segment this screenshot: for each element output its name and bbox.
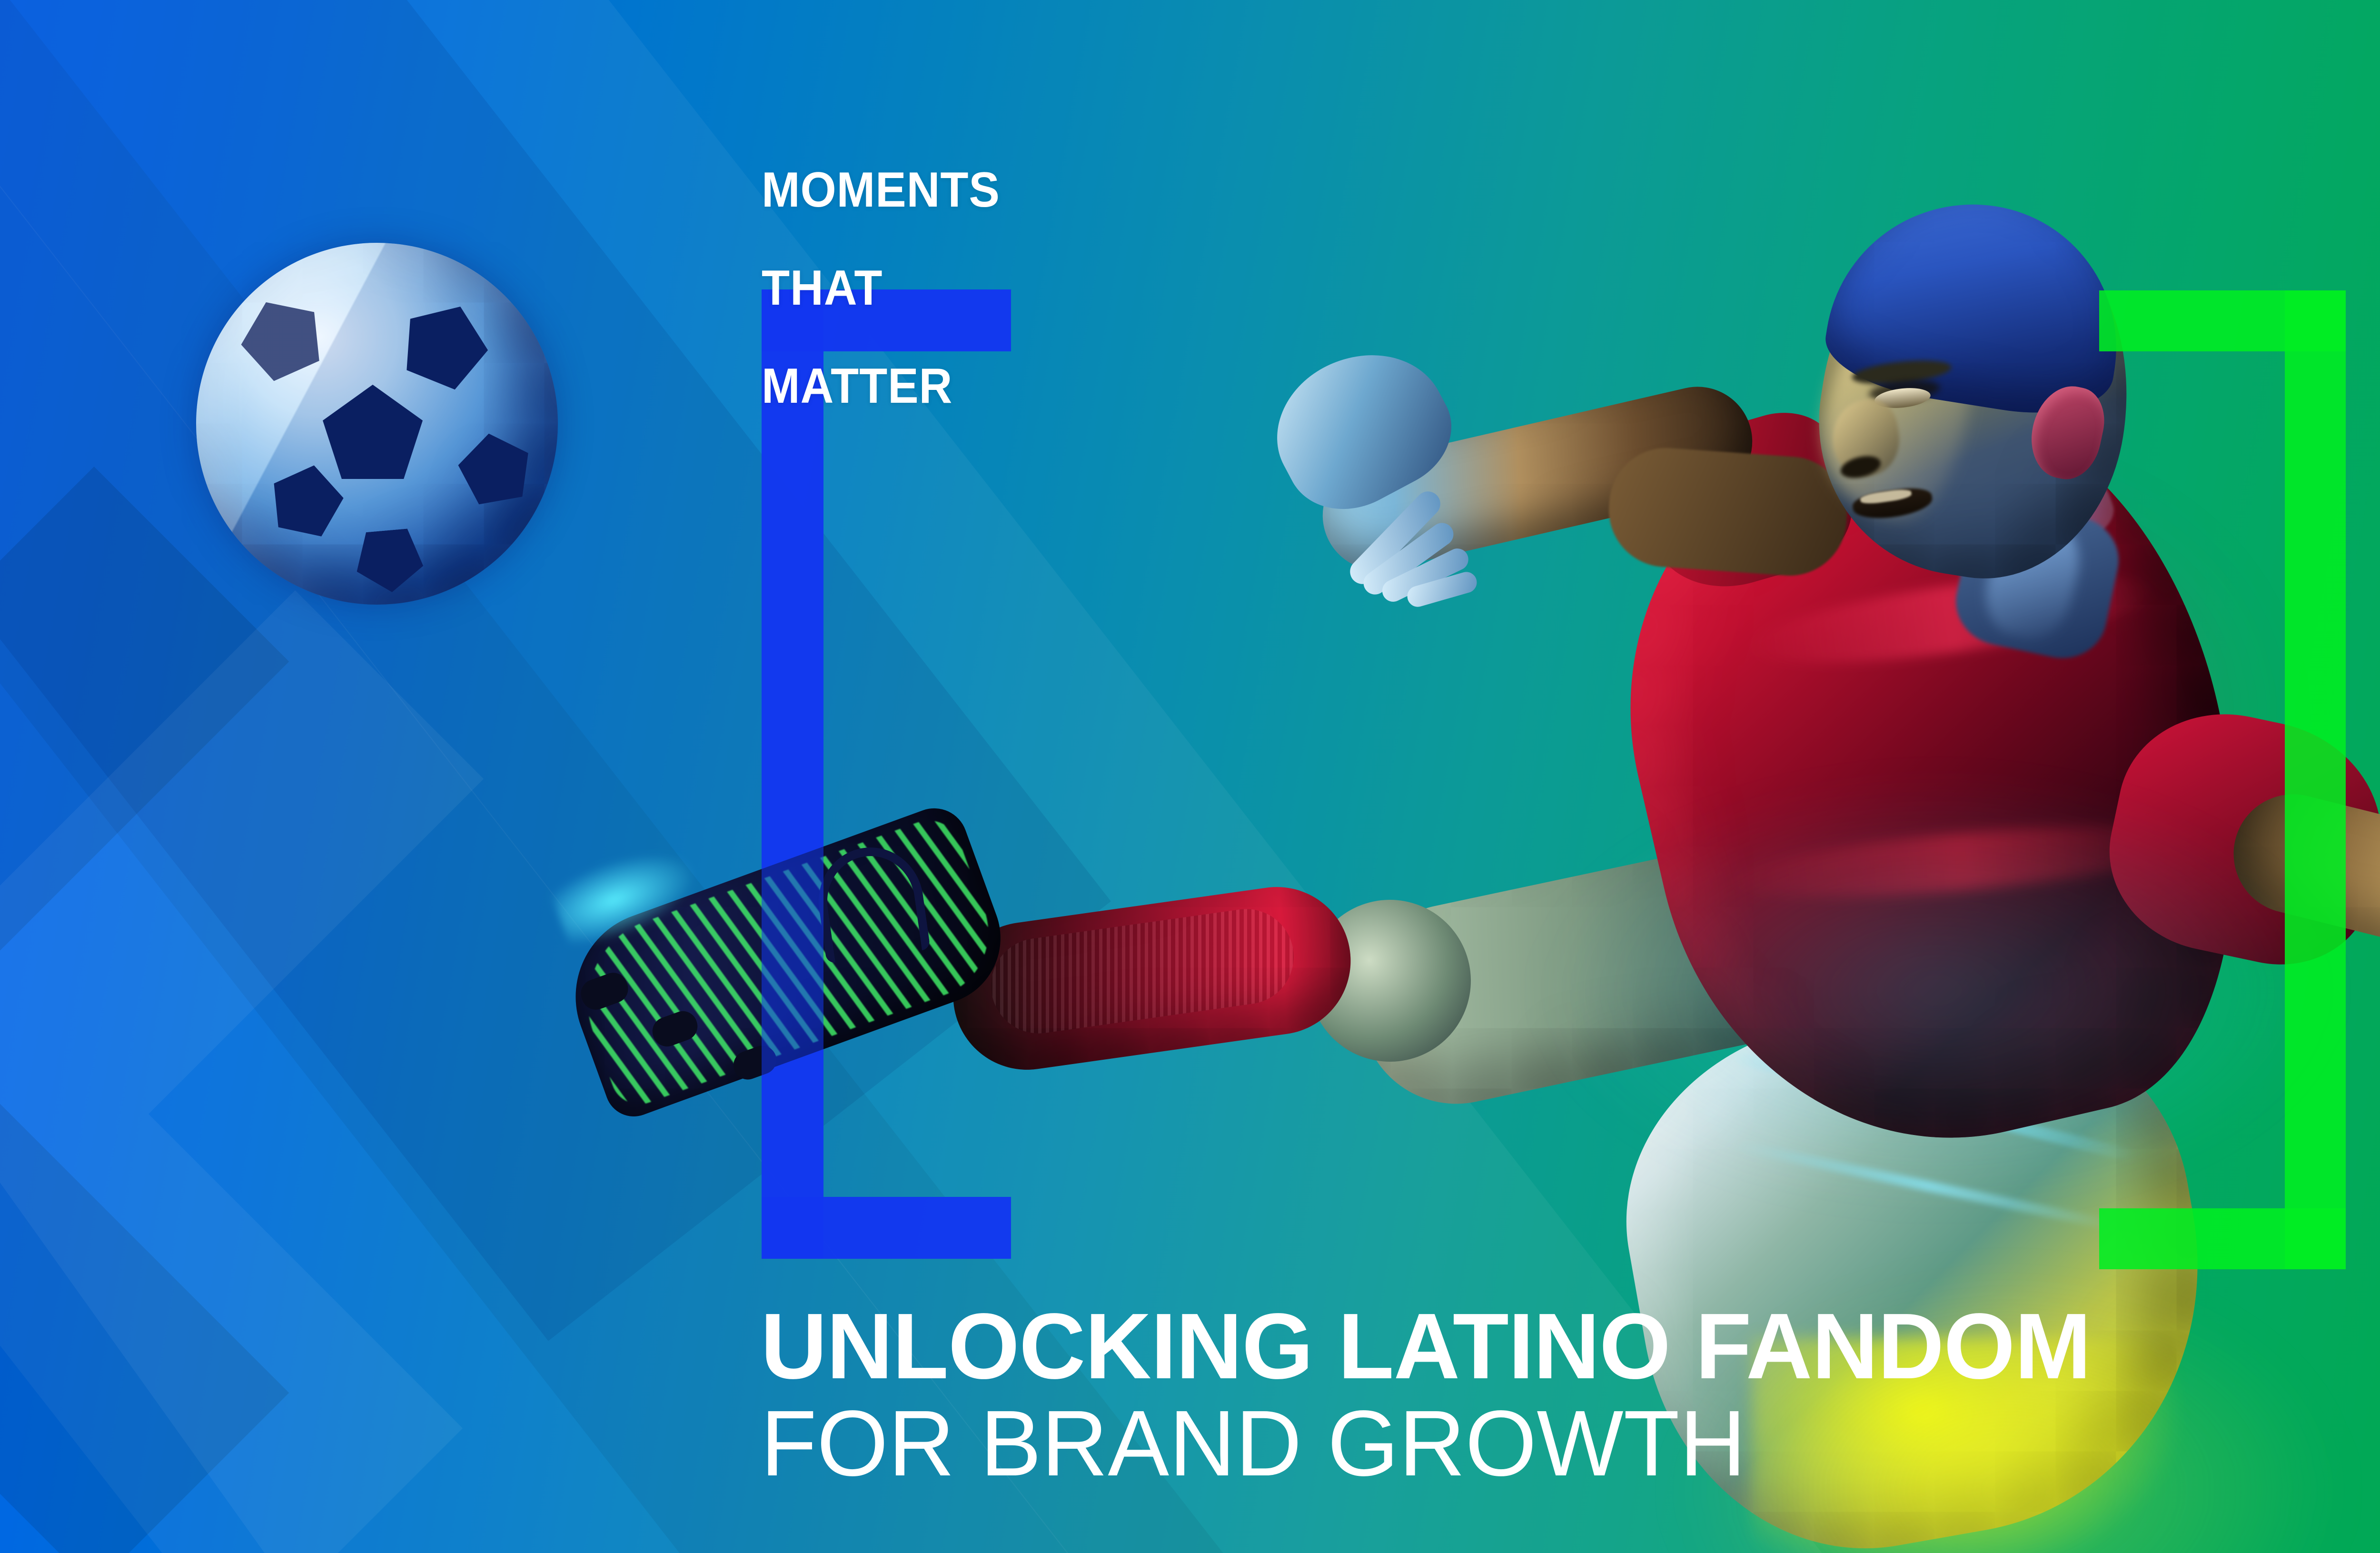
headline-line-2: FOR BRAND GROWTH [761,1396,2091,1491]
brand-logo: MOMENTS THAT MATTER [762,117,1000,460]
hero-banner: MOMENTS THAT MATTER UNLOCKING LATINO FAN… [0,0,2380,1553]
headline: UNLOCKING LATINO FANDOM FOR BRAND GROWTH [761,1300,2111,1491]
logo-line-1: MOMENTS [762,166,1000,215]
close-bracket [2099,290,2346,1269]
headline-line-1: UNLOCKING LATINO FANDOM [761,1300,2091,1393]
logo-line-2: THAT [762,264,1000,313]
logo-line-3: MATTER [762,362,1000,411]
